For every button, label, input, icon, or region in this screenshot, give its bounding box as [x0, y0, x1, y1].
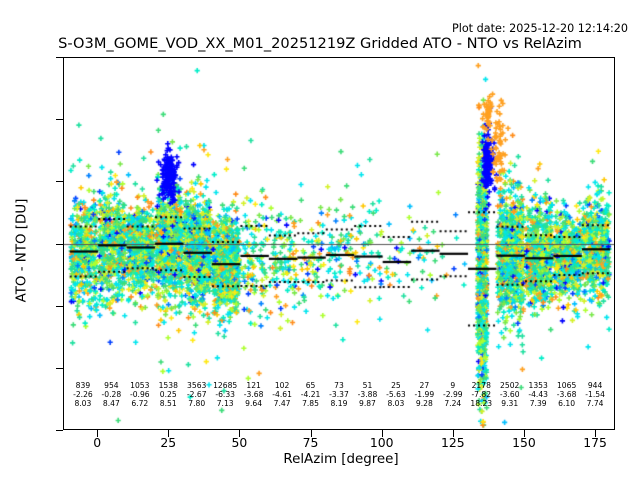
- x-tick-mark: [97, 430, 98, 437]
- x-tick-label: 125: [423, 435, 483, 450]
- y-tick-mark: [56, 57, 63, 58]
- y-tick-mark: [56, 119, 63, 120]
- x-tick-mark: [595, 430, 596, 437]
- x-tick-label: 175: [565, 435, 625, 450]
- figure: Plot date: 2025-12-20 12:14:20 S-O3M_GOM…: [0, 0, 640, 480]
- plot-title: S-O3M_GOME_VOD_XX_M01_20251219Z Gridded …: [0, 35, 640, 52]
- bin-stat-column: 944-1.547.74: [569, 381, 621, 409]
- x-tick-label: 100: [352, 435, 412, 450]
- x-tick-label: 0: [67, 435, 127, 450]
- y-tick-mark: [56, 306, 63, 307]
- plot-date-annotation: Plot date: 2025-12-20 12:14:20: [0, 22, 628, 35]
- bin-std: 7.74: [569, 399, 621, 408]
- y-tick-mark: [56, 181, 63, 182]
- x-tick-label: 150: [494, 435, 554, 450]
- x-tick-mark: [382, 430, 383, 437]
- y-tick-mark: [56, 368, 63, 369]
- bin-statistics-table: 839-2.268.03954-0.288.471053-0.966.72153…: [63, 381, 615, 413]
- mean-std-lines-layer: [64, 58, 615, 430]
- bin-mean: -1.54: [569, 390, 621, 399]
- plot-axes-area: [63, 57, 615, 430]
- x-tick-mark: [453, 430, 454, 437]
- x-tick-label: 25: [138, 435, 198, 450]
- x-tick-mark: [524, 430, 525, 437]
- x-tick-mark: [311, 430, 312, 437]
- bin-count: 944: [569, 381, 621, 390]
- y-tick-mark: [56, 430, 63, 431]
- x-tick-label: 50: [209, 435, 269, 450]
- y-axis-label: ATO - NTO [DU]: [15, 61, 30, 441]
- x-tick-mark: [239, 430, 240, 437]
- x-tick-mark: [168, 430, 169, 437]
- y-tick-mark: [56, 244, 63, 245]
- x-tick-label: 75: [281, 435, 341, 450]
- x-axis-label: RelAzim [degree]: [0, 452, 640, 467]
